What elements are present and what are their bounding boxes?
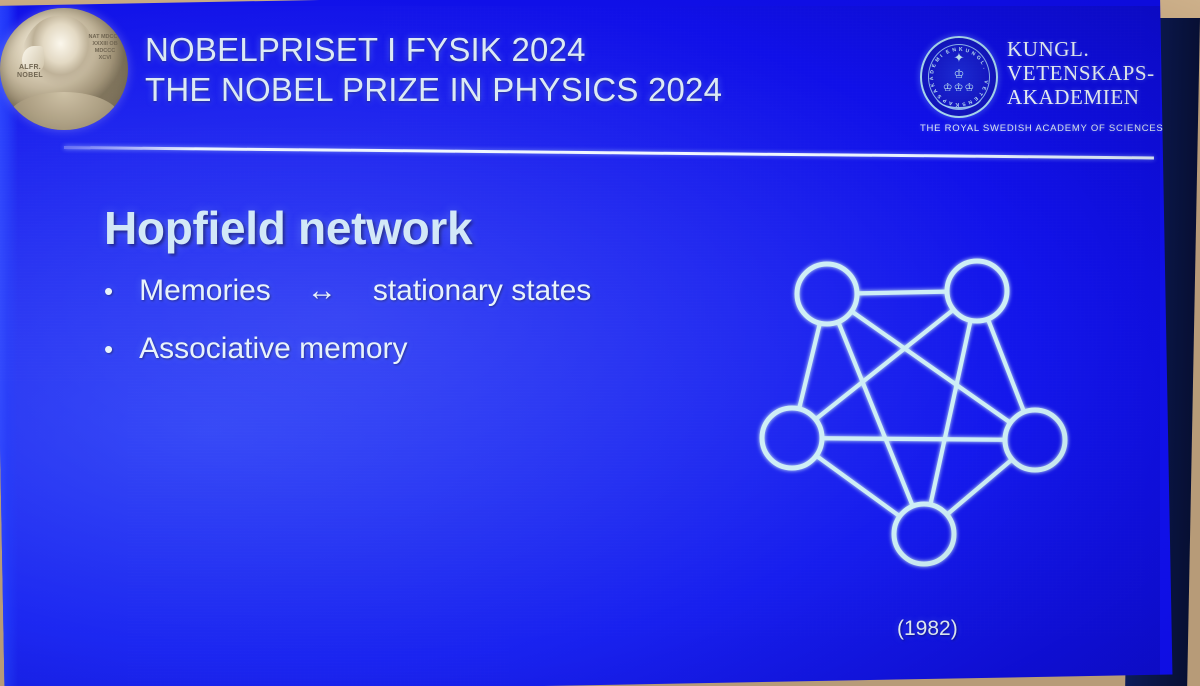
slide-content: ALFR. NOBEL NAT MDCCC XXXIII OB MDCCC XC… bbox=[0, 6, 1160, 686]
page-title: Hopfield network bbox=[104, 201, 472, 255]
medal-inscription-left: ALFR. NOBEL bbox=[9, 64, 51, 80]
academy-name-line2: VETENSKAPS- bbox=[1007, 61, 1155, 85]
bullet-marker: • bbox=[104, 334, 113, 364]
graph-node bbox=[947, 261, 1007, 321]
academy-subtitle: THE ROYAL SWEDISH ACADEMY OF SCIENCES bbox=[920, 123, 1160, 134]
graph-edge bbox=[930, 320, 970, 504]
graph-node bbox=[894, 504, 954, 564]
graph-edge bbox=[947, 459, 1012, 514]
header-title-block: NOBELPRISET I FYSIK 2024 THE NOBEL PRIZE… bbox=[145, 30, 722, 110]
bullet-text-1a: Memories bbox=[139, 274, 271, 308]
graph-edge bbox=[815, 310, 953, 420]
graph-edge bbox=[988, 319, 1024, 412]
graph-edge bbox=[816, 456, 899, 517]
graph-node bbox=[762, 408, 822, 468]
header-title-swedish: NOBELPRISET I FYSIK 2024 bbox=[145, 30, 722, 70]
bullet-marker: • bbox=[104, 276, 113, 306]
nobel-medal-icon: ALFR. NOBEL NAT MDCCC XXXIII OB MDCCC XC… bbox=[0, 8, 128, 130]
medal-inscription-right: NAT MDCCC XXXIII OB MDCCC XCVI bbox=[88, 34, 122, 62]
diagram-caption: (1982) bbox=[897, 617, 958, 641]
graph-node bbox=[1005, 410, 1065, 470]
academy-name-block: KUNGL. VETENSKAPS- AKADEMIEN bbox=[1007, 36, 1155, 109]
graph-node bbox=[797, 264, 857, 324]
graph-edge bbox=[822, 438, 1005, 440]
bullet-list: • Memories ↔ stationary states • Associa… bbox=[104, 274, 591, 390]
screenshot-root: ALFR. NOBEL NAT MDCCC XXXIII OB MDCCC XC… bbox=[0, 0, 1200, 686]
header-divider bbox=[64, 146, 1154, 159]
bullet-text-1b: stationary states bbox=[373, 274, 591, 308]
academy-logo: ✦ ♔ ♔♔♔ KUNGL. VETENSKAPSAKADEMIEN KUNGL… bbox=[920, 36, 1160, 134]
graph-edge bbox=[857, 292, 947, 294]
bullet-text-2: Associative memory bbox=[139, 332, 407, 366]
seal-ring-text: KUNGL. VETENSKAPSAKADEMIEN bbox=[922, 38, 996, 116]
graph-edge bbox=[799, 323, 820, 409]
list-item: • Associative memory bbox=[104, 332, 591, 366]
network-graph-svg bbox=[732, 234, 1092, 584]
hopfield-network-graph bbox=[732, 234, 1092, 584]
academy-name-line1: KUNGL. bbox=[1007, 37, 1155, 61]
list-item: • Memories ↔ stationary states bbox=[104, 274, 591, 308]
header-title-english: THE NOBEL PRIZE IN PHYSICS 2024 bbox=[145, 70, 722, 110]
academy-name-line3: AKADEMIEN bbox=[1007, 85, 1155, 109]
double-arrow-icon: ↔ bbox=[297, 274, 347, 308]
royal-academy-seal-icon: ✦ ♔ ♔♔♔ KUNGL. VETENSKAPSAKADEMIEN bbox=[920, 36, 998, 118]
projection-screen: ALFR. NOBEL NAT MDCCC XXXIII OB MDCCC XC… bbox=[0, 0, 1172, 686]
